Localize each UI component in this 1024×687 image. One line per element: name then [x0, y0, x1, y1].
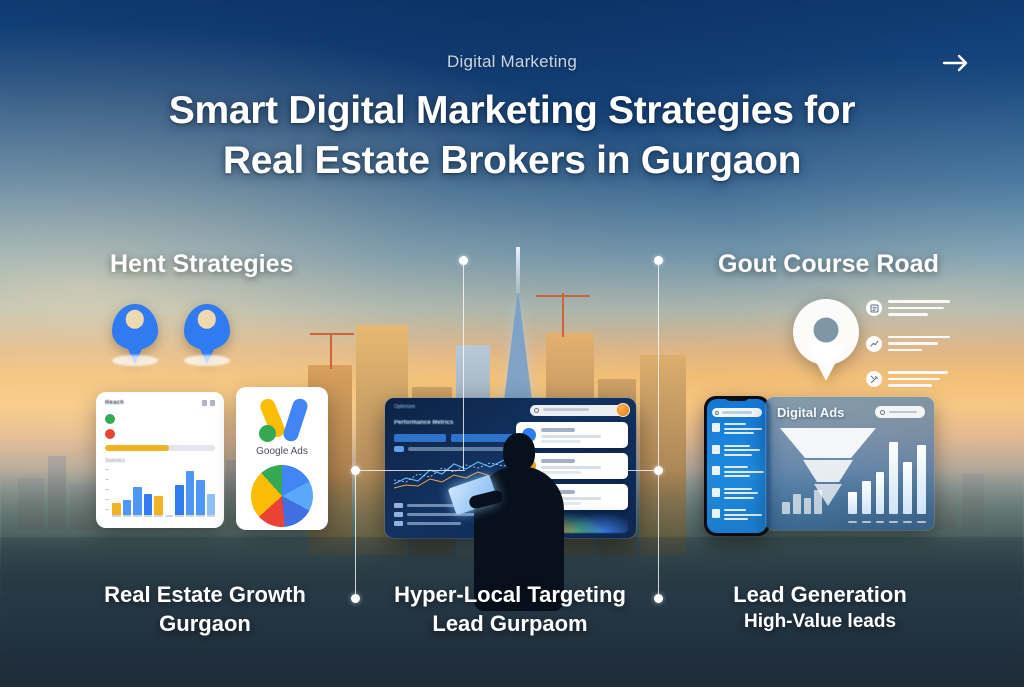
digital-ads-bar-chart	[848, 442, 926, 514]
digital-ads-search-input[interactable]	[875, 406, 925, 418]
list-item	[866, 371, 944, 391]
search-icon	[534, 408, 539, 413]
headline-line-1: Smart Digital Marketing Strategies for	[169, 89, 855, 132]
connector-dot-bottom-1	[351, 594, 360, 603]
analytics-card-title: Reach	[105, 400, 124, 406]
pin-head	[112, 304, 158, 350]
connector-line-3	[658, 262, 659, 470]
dashboard-section-title: Performance Metrics	[394, 420, 453, 426]
google-ads-pie-chart	[251, 465, 313, 527]
tools-icon	[866, 371, 882, 387]
pin-head	[184, 304, 230, 350]
analytics-card-header: Reach	[105, 400, 215, 406]
analytics-row-red	[105, 429, 215, 439]
google-ads-card[interactable]: Google Ads	[236, 387, 328, 530]
caption-right-line2: High-Value leads	[680, 609, 960, 634]
phone-search-input[interactable]	[712, 408, 762, 417]
list-item	[866, 300, 944, 320]
caption-left-line2: Gurgaon	[60, 609, 350, 638]
google-ads-logo-icon	[253, 396, 311, 442]
connector-line-4	[658, 470, 659, 598]
list-item[interactable]	[712, 488, 762, 502]
analytics-row-green	[105, 414, 215, 424]
analytics-bar-chart	[105, 467, 215, 515]
listing-icon	[712, 466, 720, 475]
connector-dot-mid-1	[351, 466, 360, 475]
search-icon	[880, 410, 885, 415]
location-pin-icon-large	[793, 299, 859, 371]
caption-left-line1: Real Estate Growth	[60, 580, 350, 609]
connector-dot-mid-2	[654, 466, 663, 475]
eyebrow-label: Digital Marketing	[0, 52, 1024, 72]
list-item[interactable]	[712, 466, 762, 480]
page-title: Smart Digital Marketing Strategies for R…	[0, 86, 1024, 186]
phone-notch	[725, 396, 749, 401]
info-lines	[888, 336, 950, 356]
connector-dot-top-1	[459, 256, 468, 265]
caption-middle-line2: Lead Gurpaom	[360, 609, 660, 638]
dashboard-brand-label: Optimizer	[394, 404, 415, 410]
google-ads-label: Google Ads	[236, 446, 328, 457]
funnel-stage-2	[803, 460, 853, 482]
list-item[interactable]	[712, 509, 762, 523]
connector-line-2	[355, 470, 356, 598]
search-placeholder	[889, 411, 917, 413]
pin-hole	[126, 310, 144, 328]
analytics-chart-label: Statistics	[105, 458, 215, 464]
analytics-card-menu-icon[interactable]	[202, 400, 215, 406]
pin-hole	[814, 318, 839, 343]
document-icon	[866, 300, 882, 316]
headline-line-2: Real Estate Brokers in Gurgaon	[0, 136, 1024, 186]
analytics-progress-bar	[105, 445, 215, 451]
connector-elbow-1	[355, 470, 465, 471]
dashboard-search-input[interactable]	[530, 405, 628, 416]
caption-left: Real Estate Growth Gurgaon	[60, 580, 350, 638]
caption-right: Lead Generation High-Value leads	[680, 580, 960, 634]
poster-canvas: Digital Marketing Smart Digital Marketin…	[0, 0, 1024, 687]
pin-shadow	[184, 355, 230, 366]
caption-right-line1: Lead Generation	[680, 580, 960, 609]
listing-icon	[712, 488, 720, 497]
arrow-right-icon[interactable]	[938, 48, 974, 78]
status-dot-red	[105, 429, 115, 439]
caption-middle: Hyper-Local Targeting Lead Gurpaom	[360, 580, 660, 638]
listing-icon	[712, 423, 720, 432]
digital-ads-panel[interactable]: Digital Ads	[766, 397, 934, 530]
pin-shadow	[112, 355, 158, 366]
info-lines	[888, 300, 950, 320]
digital-ads-title: Digital Ads	[777, 405, 844, 420]
map-pin-icon-1	[112, 304, 158, 350]
chart-y-axis	[105, 467, 111, 515]
connector-line-1	[463, 262, 464, 470]
growth-icon	[866, 336, 882, 352]
search-placeholder	[543, 408, 589, 411]
list-item[interactable]	[712, 445, 762, 459]
connector-dot-top-2	[654, 256, 663, 265]
location-info-list	[866, 300, 944, 407]
smartphone-mockup[interactable]	[704, 396, 770, 536]
listing-icon	[712, 445, 720, 454]
search-icon	[715, 411, 719, 415]
digital-ads-x-axis-labels	[848, 521, 926, 523]
analytics-card[interactable]: Reach Statistics	[96, 392, 224, 528]
map-pin-icon-2	[184, 304, 230, 350]
caption-middle-line1: Hyper-Local Targeting	[360, 580, 660, 609]
section-label-left: Hent Strategies	[110, 250, 293, 279]
list-item[interactable]	[712, 423, 762, 437]
listing-icon	[712, 509, 720, 518]
phone-screen[interactable]	[707, 399, 767, 533]
section-label-right: Gout Course Road	[718, 250, 939, 279]
pin-hole	[198, 310, 216, 328]
info-lines	[888, 371, 948, 391]
list-item	[866, 336, 944, 356]
status-dot-green	[105, 414, 115, 424]
digital-ads-mini-bar-chart	[782, 484, 822, 514]
search-placeholder	[722, 411, 752, 414]
avatar[interactable]	[616, 403, 630, 417]
chart-x-axis-labels	[105, 515, 215, 517]
